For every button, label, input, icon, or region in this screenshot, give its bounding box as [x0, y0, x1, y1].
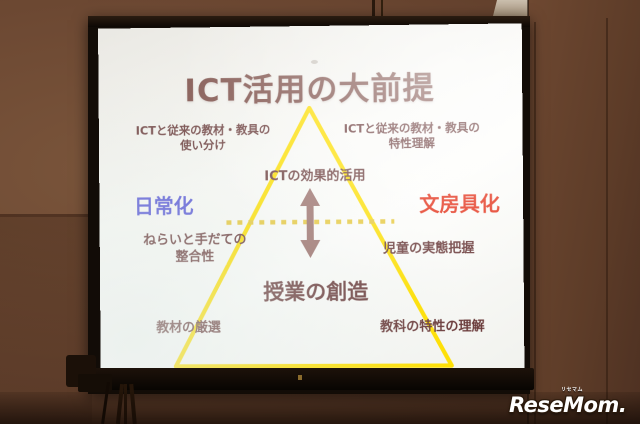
screenshot-root: ICT活用の大前提 ICTと従来の教材・教具の 使い分け ICTと従来の教材・教… — [0, 0, 640, 424]
screen-hanger-rod-2 — [381, 0, 383, 16]
watermark-text: ReseMom. — [509, 393, 626, 417]
center-middle-text: ICTの効果的活用 — [230, 167, 400, 185]
note-bottom-right: 教科の特性の理解 — [347, 318, 518, 336]
note-top-right: ICTと従来の教材・教具の 特性理解 — [321, 120, 502, 152]
note-bottom-left: 教材の厳選 — [124, 319, 253, 336]
screen-bottom-indicator — [298, 375, 302, 380]
note-top-right-line1: ICTと従来の教材・教具の — [321, 120, 502, 137]
resemom-watermark: ReseMom. リセマム — [509, 393, 626, 417]
watermark-ruby: リセマム — [561, 386, 583, 393]
note-top-left-line2: 使い分け — [119, 137, 288, 154]
slide-title: ICT活用の大前提 — [98, 62, 522, 112]
screen-dust-speck — [311, 60, 318, 64]
presentation-slide: ICT活用の大前提 ICTと従来の教材・教具の 使い分け ICTと従来の教材・教… — [98, 23, 524, 370]
right-label-stationery: 文房具化 — [396, 187, 523, 217]
note-top-right-line2: 特性理解 — [322, 135, 503, 152]
screen-bottom-bar — [80, 368, 534, 390]
left-label-daily-use: 日常化 — [105, 190, 222, 220]
note-mid-left-line1: ねらいと手だての — [115, 231, 274, 249]
note-top-left-line1: ICTと従来の教材・教具の — [119, 122, 288, 139]
note-mid-right: 児童の実態把握 — [348, 240, 509, 258]
note-top-left: ICTと従来の教材・教具の 使い分け — [119, 122, 288, 154]
note-mid-left: ねらいと手だての 整合性 — [115, 231, 274, 266]
center-bottom-text: 授業の創造 — [221, 275, 411, 306]
note-mid-left-line2: 整合性 — [116, 248, 275, 266]
projection-screen-surface: ICT活用の大前提 ICTと従来の教材・教具の 使い分け ICTと従来の教材・教… — [98, 23, 524, 370]
wall-seam-center — [534, 22, 536, 424]
wall-seam-right — [606, 18, 608, 424]
right-wall-partition — [528, 0, 640, 424]
